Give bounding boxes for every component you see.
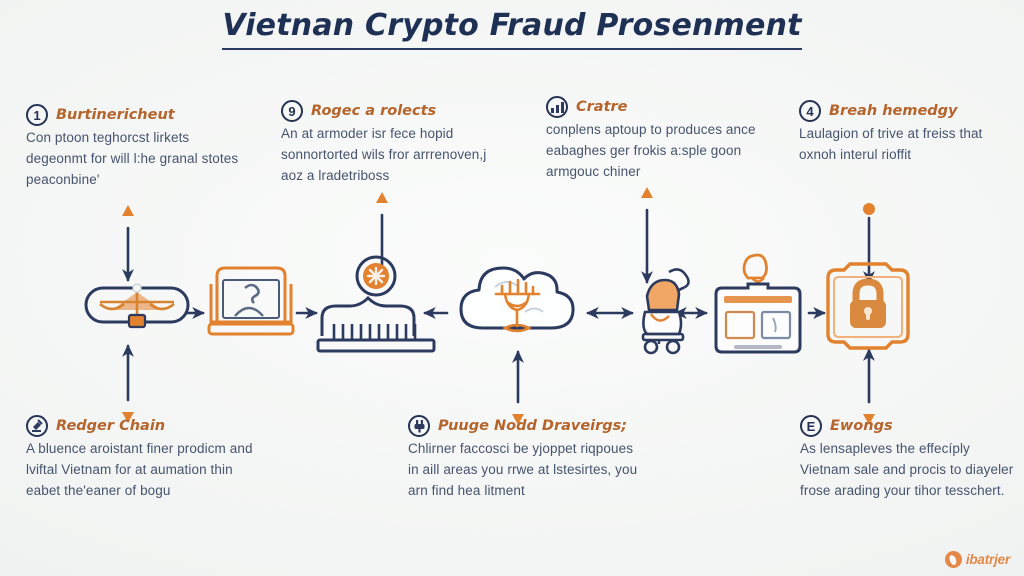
plug-icon — [408, 415, 430, 437]
note-header: Redger Chain — [26, 415, 261, 437]
note-body: As lensapleves the effecíply Vietnam sal… — [800, 439, 1015, 502]
note-title: Puuge Nodd Draveirgs; — [438, 415, 627, 435]
note-body: Con ptoon teghorcst lirkets degeonmt for… — [26, 128, 246, 191]
annotation-note-2: 9 Rogec a rolects An at armoder isr fece… — [281, 100, 509, 187]
number-badge: 4 — [799, 100, 821, 122]
flow-node-padlock[interactable] — [818, 262, 918, 358]
scales-of-justice-icon — [82, 270, 192, 340]
number-badge: 9 — [281, 100, 303, 122]
note-header: 1 Burtinericheut — [26, 104, 246, 126]
annotation-note-5: Redger Chain A bluence aroistant finer p… — [26, 415, 261, 502]
annotation-note-7: E Ewongs As lensapleves the effecíply Vi… — [800, 415, 1015, 502]
flow-node-browser-window[interactable] — [708, 250, 808, 360]
note-body: conplens aptoup to produces ance eabaghe… — [546, 120, 776, 183]
laptop-monitor-icon — [205, 258, 297, 350]
number-badge: 1 — [26, 104, 48, 126]
padlock-icon — [818, 262, 918, 358]
cloud-trophy-icon — [455, 242, 580, 362]
euro-badge: E — [800, 415, 822, 437]
annotation-note-6: Puuge Nodd Draveirgs; Chlirner faccosci … — [408, 415, 643, 502]
flow-diagram — [0, 240, 1024, 370]
note-header: 9 Rogec a rolects — [281, 100, 509, 122]
annotation-note-1: 1 Burtinericheut Con ptoon teghorcst lir… — [26, 104, 246, 191]
note-body: A bluence aroistant finer prodicm and lv… — [26, 439, 261, 502]
gavel-icon — [26, 415, 48, 437]
note-header: 4 Breah hemedgy — [799, 100, 1014, 122]
note-header: Cratre — [546, 96, 776, 118]
browser-window-icon — [708, 250, 808, 360]
flow-node-scales-of-justice[interactable] — [82, 270, 192, 340]
flow-node-laptop[interactable] — [205, 258, 297, 350]
note-header: E Ewongs — [800, 415, 1015, 437]
title-container: Vietnan Crypto Fraud Prosenment — [0, 8, 1024, 50]
note-body: Laulagion of trive at freiss that oxnoh … — [799, 124, 1014, 166]
annotation-note-4: 4 Breah hemedgy Laulagion of trive at fr… — [799, 100, 1014, 166]
watermark-text: ibatrjer — [966, 552, 1010, 567]
note-title: Ewongs — [830, 415, 893, 435]
note-body: An at armoder isr fece hopid sonnortorte… — [281, 124, 509, 187]
bar-chart-icon — [546, 96, 568, 118]
watermark-logo: ibatrjer — [945, 551, 1010, 568]
bank-building-icon — [312, 250, 440, 360]
note-title: Burtinericheut — [56, 104, 175, 124]
flame-logo-icon — [945, 551, 962, 568]
note-header: Puuge Nodd Draveirgs; — [408, 415, 643, 437]
person-at-desk-icon — [635, 260, 705, 355]
note-title: Breah hemedgy — [829, 100, 958, 120]
page-title: Vietnan Crypto Fraud Prosenment — [222, 8, 801, 50]
flow-node-cloud[interactable] — [455, 242, 580, 362]
flow-node-person-at-desk[interactable] — [635, 260, 705, 355]
flow-node-bank[interactable] — [312, 250, 440, 360]
note-title: Rogec a rolects — [311, 100, 436, 120]
note-title: Cratre — [576, 96, 628, 116]
note-title: Redger Chain — [56, 415, 165, 435]
annotation-note-3: Cratre conplens aptoup to produces ance … — [546, 96, 776, 183]
note-body: Chlirner faccosci be yjoppet riqpoues in… — [408, 439, 643, 502]
